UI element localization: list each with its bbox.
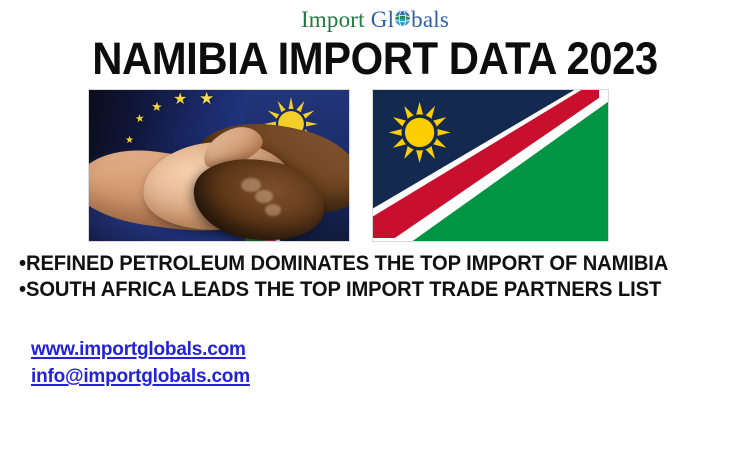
eu-star-icon: ★ — [173, 92, 187, 108]
image-row: ★ ★ ★ ★ ★ ★ ★ ★ — [0, 89, 750, 242]
list-item: •SOUTH AFRICA LEADS THE TOP IMPORT TRADE… — [19, 277, 706, 303]
handshake-flags-image: ★ ★ ★ ★ ★ ★ ★ ★ — [88, 89, 350, 242]
handshake-knuckle-highlight — [241, 178, 261, 192]
eu-star-icon: ★ — [125, 136, 134, 146]
globe-icon — [394, 10, 411, 27]
handshake-knuckle-highlight — [265, 204, 281, 216]
contact-block: www.importglobals.com info@importglobals… — [31, 336, 250, 390]
poster-canvas: Import Gl bals NAMIBIA IMPORT DATA 2023 … — [0, 0, 750, 450]
brand-word-globals-prefix: Gl — [371, 7, 394, 33]
eu-star-icon: ★ — [134, 113, 145, 125]
page-title: NAMIBIA IMPORT DATA 2023 — [26, 36, 724, 82]
brand-logo[interactable]: Import Gl bals — [0, 4, 750, 36]
list-item-label: SOUTH AFRICA LEADS THE TOP IMPORT TRADE … — [26, 278, 661, 301]
email-link[interactable]: info@importglobals.com — [31, 363, 250, 390]
website-link[interactable]: www.importglobals.com — [31, 336, 246, 363]
brand-word-globals-suffix: bals — [411, 7, 449, 33]
eu-star-icon: ★ — [199, 90, 214, 107]
list-item-label: REFINED PETROLEUM DOMINATES THE TOP IMPO… — [26, 252, 668, 275]
namibia-flag-image — [372, 89, 609, 242]
highlights-list: •REFINED PETROLEUM DOMINATES THE TOP IMP… — [19, 251, 735, 303]
list-item: •REFINED PETROLEUM DOMINATES THE TOP IMP… — [19, 251, 706, 277]
handshake-knuckle-highlight — [255, 190, 273, 203]
eu-star-icon: ★ — [151, 100, 164, 114]
brand-logo-text: Import Gl bals — [301, 7, 449, 33]
brand-word-import: Import — [301, 7, 365, 33]
